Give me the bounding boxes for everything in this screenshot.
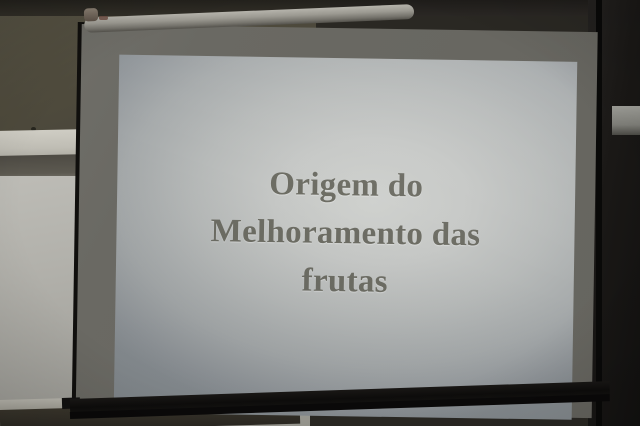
- screen-surface: Origem do Melhoramento das frutas: [76, 24, 598, 418]
- wall-mounted-panel: [612, 106, 640, 135]
- projected-slide-photo: Origem do Melhoramento das frutas: [0, 0, 640, 426]
- screen-roller-endcap: [84, 8, 99, 22]
- slide-title-line-3: frutas: [301, 257, 388, 307]
- projection-screen: Origem do Melhoramento das frutas: [72, 10, 598, 424]
- slide-title-line-2: Melhoramento das: [210, 207, 480, 259]
- screen-roller-bracket: [99, 16, 108, 20]
- slide-title-line-1: Origem do: [269, 160, 424, 211]
- slide-title-block: Origem do Melhoramento das frutas: [114, 55, 578, 420]
- projected-slide-area: Origem do Melhoramento das frutas: [114, 55, 578, 420]
